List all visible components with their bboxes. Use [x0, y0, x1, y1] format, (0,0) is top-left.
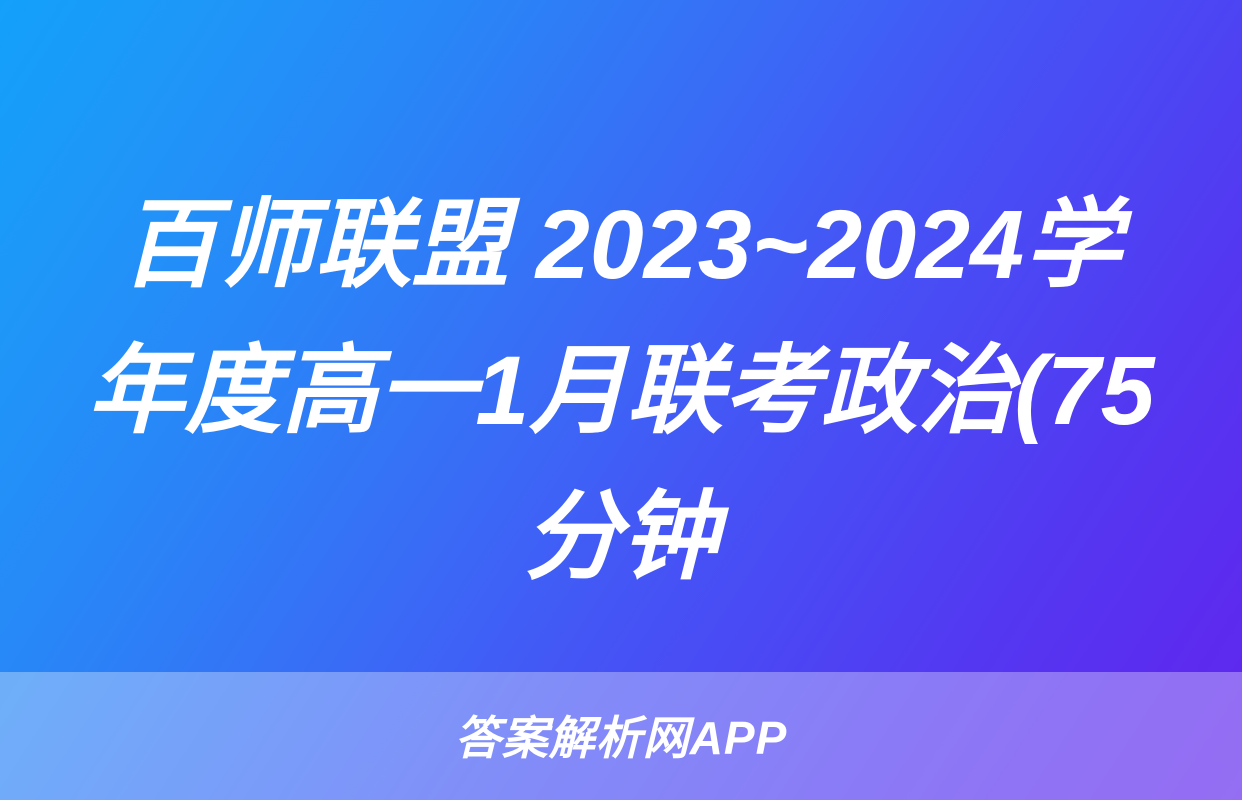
watermark-label: 答案解析网APP — [455, 715, 788, 761]
title-line-1: 百师联盟 2023~2024学 — [74, 172, 1168, 318]
title-line-2: 年度高一1月联考政治(75 — [74, 318, 1168, 464]
exam-title-card: 百师联盟 2023~2024学 年度高一1月联考政治(75 分钟 答案解析网AP… — [0, 0, 1242, 800]
title-line-3: 分钟 — [74, 464, 1168, 610]
page-title: 百师联盟 2023~2024学 年度高一1月联考政治(75 分钟 — [0, 172, 1242, 610]
watermark-band: 答案解析网APP — [0, 672, 1242, 800]
